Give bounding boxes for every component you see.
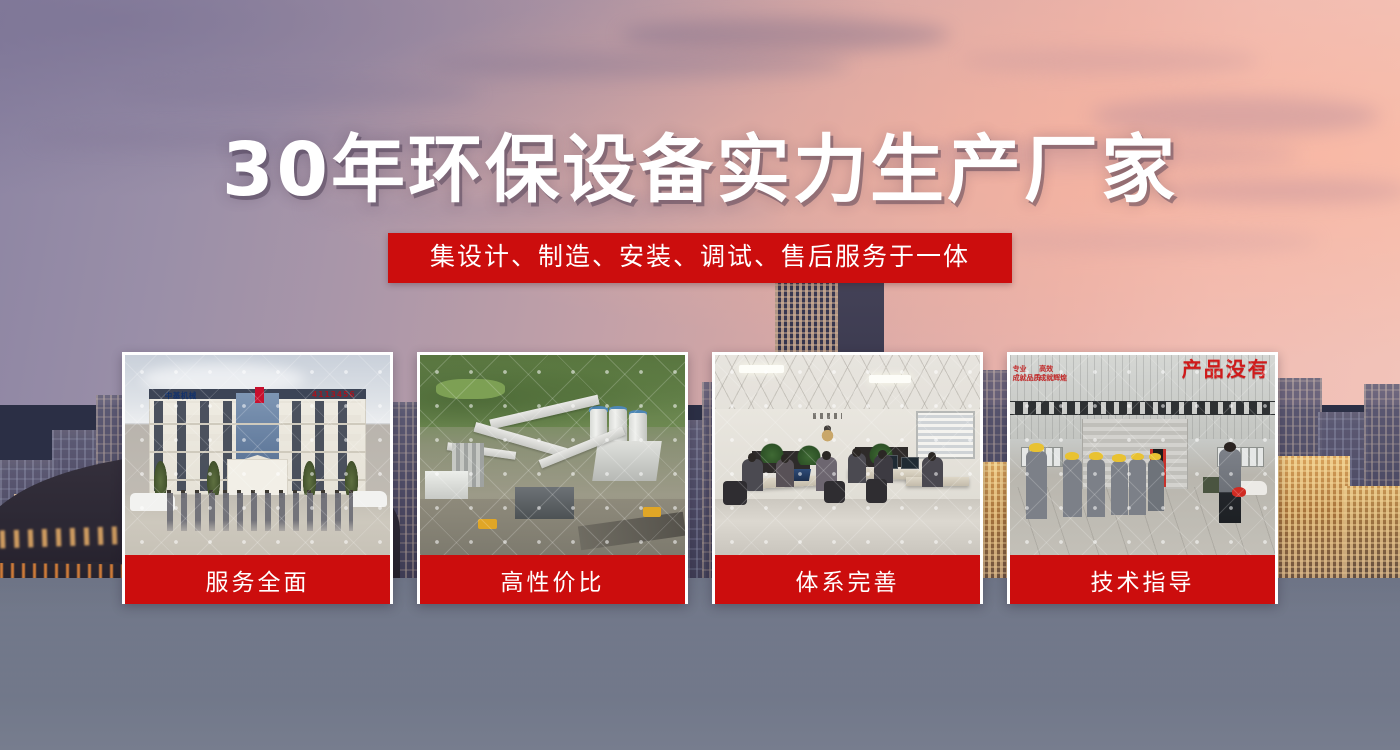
cloud (620, 18, 950, 52)
car (350, 491, 387, 507)
instructor (1219, 449, 1240, 523)
staff-group (167, 493, 353, 531)
feature-card-list: 中基机械 4113456 服务全面 (122, 352, 1278, 604)
building-sign-text: 中基机械 (165, 390, 197, 401)
feature-card-label: 技术指导 (1010, 555, 1275, 604)
feature-card-label: 服务全面 (125, 555, 390, 604)
flag-icon (255, 387, 264, 403)
factory-slogan-1: 专业 (1013, 365, 1027, 373)
feature-card-label: 高性价比 (420, 555, 685, 604)
technician-training-photo: 产品没有 专业 成就品质 高效 成就辉煌 (1010, 355, 1275, 555)
ceiling-light (869, 375, 911, 383)
hard-hat-icon (1149, 453, 1161, 460)
company-headquarters-photo: 中基机械 4113456 (125, 355, 390, 555)
red-helmet-icon (1232, 487, 1246, 497)
feature-card[interactable]: 高性价比 (417, 352, 688, 604)
factory-slogan-2-sub: 成就辉煌 (1039, 374, 1067, 382)
factory-slogan-1-sub: 成就品质 (1013, 374, 1041, 382)
feature-card[interactable]: 体系完善 (712, 352, 983, 604)
building-sign-phone: 4113456 (312, 390, 356, 399)
production-plant-aerial-photo (420, 355, 685, 555)
feature-card-label: 体系完善 (715, 555, 980, 604)
excavator (643, 507, 662, 517)
feature-card[interactable]: 产品没有 专业 成就品质 高效 成就辉煌 (1007, 352, 1278, 604)
factory-slogan-2: 高效 (1039, 365, 1053, 373)
cloud (120, 78, 480, 108)
window-blinds (916, 411, 974, 459)
excavator (478, 519, 497, 529)
subtitle-text: 集设计、制造、安装、调试、售后服务于一体 (430, 242, 970, 272)
hard-hat-icon (1065, 452, 1079, 460)
factory-sign-text: 产品没有 (1182, 359, 1270, 379)
cloud (430, 52, 850, 78)
hard-hat-icon (1029, 443, 1045, 452)
office-interior-photo (715, 355, 980, 555)
hero-banner: 30年环保设备实力生产厂家 集设计、制造、安装、调试、售后服务于一体 (0, 0, 1400, 750)
monitor (901, 457, 920, 469)
ceiling-light (739, 365, 784, 373)
page-title: 30年环保设备实力生产厂家 (0, 133, 1400, 207)
cloud (960, 48, 1260, 74)
subtitle-banner: 集设计、制造、安装、调试、售后服务于一体 (388, 233, 1012, 283)
hard-hat-icon (1089, 452, 1103, 460)
hard-hat-icon (1112, 454, 1125, 462)
wall-decal (810, 417, 844, 447)
cloud (980, 230, 1320, 252)
hard-hat-icon (1131, 453, 1144, 461)
feature-card[interactable]: 中基机械 4113456 服务全面 (122, 352, 393, 604)
